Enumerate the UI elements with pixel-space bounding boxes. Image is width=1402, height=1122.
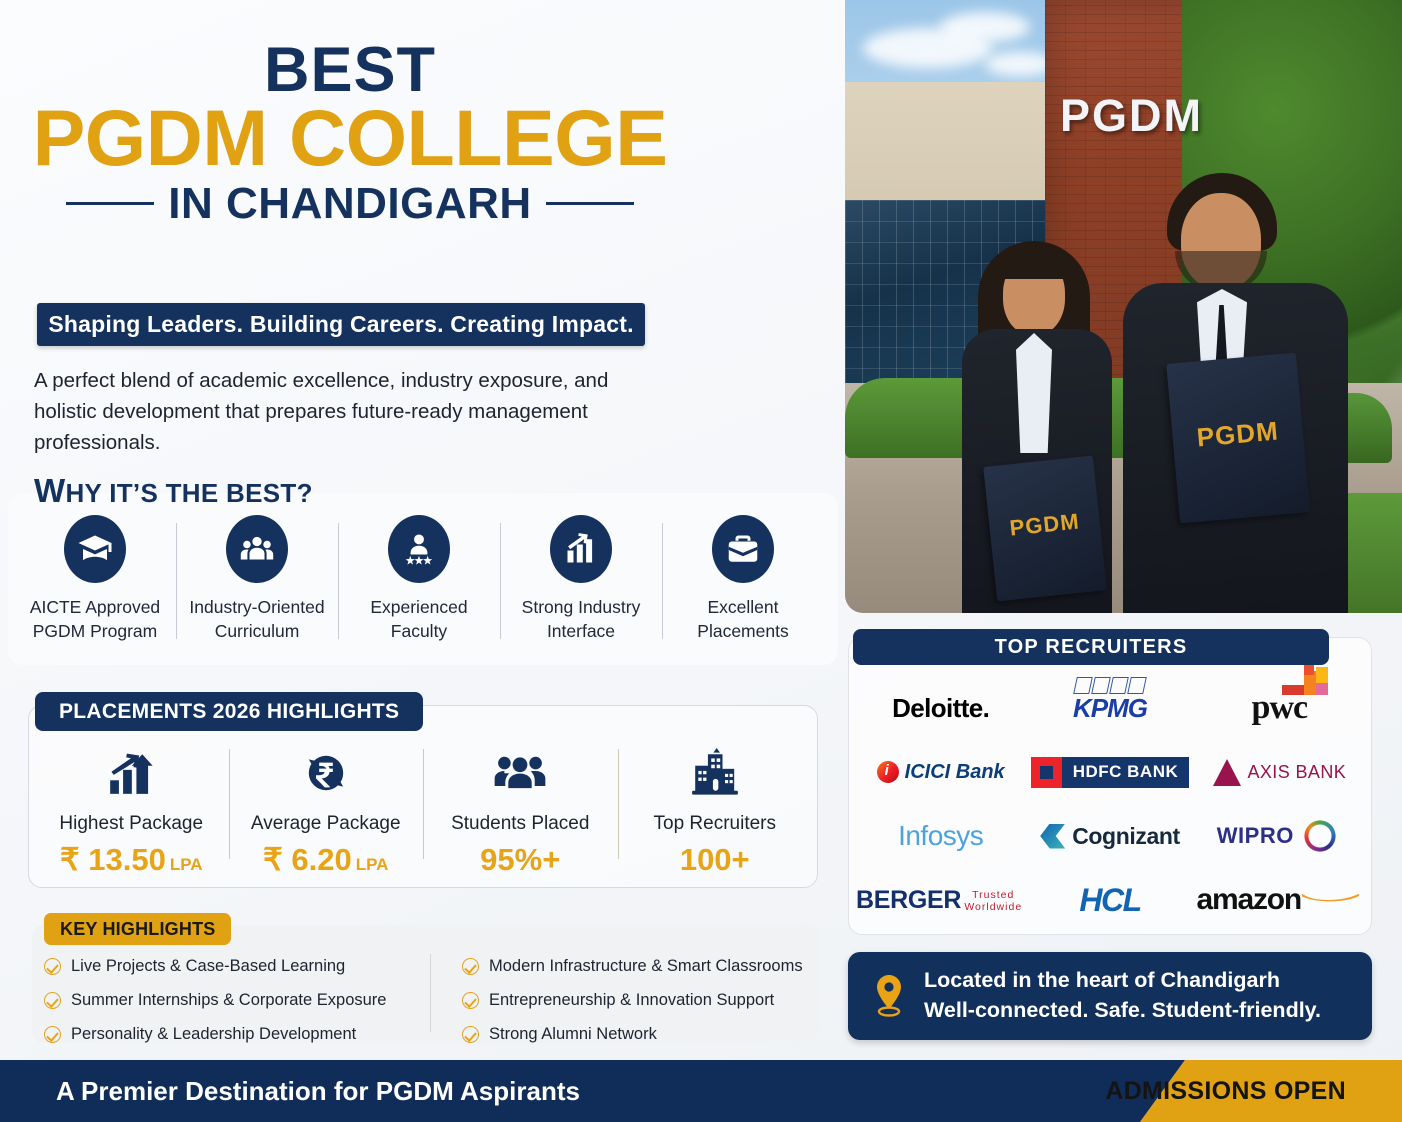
key-highlights-left-column: Live Projects & Case-Based Learning Summ… [44, 952, 424, 1049]
list-item-label: Live Projects & Case-Based Learning [71, 957, 345, 976]
icici-mark-icon [877, 761, 899, 783]
why-item-faculty[interactable]: Experienced Faculty [338, 515, 500, 643]
why-label-line1: Excellent [707, 597, 778, 617]
why-items-row: AICTE Approved PGDM Program Industry-Ori… [14, 515, 824, 643]
hcl-logo: HCL [1079, 882, 1140, 919]
why-item-industry[interactable]: Strong Industry Interface [500, 515, 662, 643]
stat-value: 100+ [680, 842, 750, 878]
list-item-label: Personality & Leadership Development [71, 1025, 356, 1044]
why-label-line1: Experienced [370, 597, 467, 617]
intro-paragraph: A perfect blend of academic excellence, … [34, 365, 614, 458]
stat-number: 95%+ [480, 842, 560, 878]
why-label-line2: Curriculum [215, 621, 300, 641]
list-item-label: Entrepreneurship & Innovation Support [489, 991, 774, 1010]
bar-chart-arrow-icon [106, 745, 156, 801]
why-item-curriculum[interactable]: Industry-Oriented Curriculum [176, 515, 338, 643]
person-stars-icon [388, 515, 450, 583]
why-item-aicte[interactable]: AICTE Approved PGDM Program [14, 515, 176, 643]
placements-stats-row: Highest Package ₹ 13.50 LPA Average Pack… [34, 745, 812, 878]
key-highlights-right-column: Modern Infrastructure & Smart Classrooms… [424, 952, 804, 1049]
rule-right [546, 202, 634, 205]
why-item-label: Strong Industry Interface [522, 596, 641, 643]
why-label-line1: Strong Industry [522, 597, 641, 617]
location-line-2: Well-connected. Safe. Student-friendly. [924, 998, 1321, 1022]
map-pin-icon [872, 973, 906, 1019]
placements-heading: PLACEMENTS 2026 HIGHLIGHTS [35, 692, 423, 731]
why-item-label: AICTE Approved PGDM Program [30, 596, 160, 643]
stat-top-recruiters: Top Recruiters 100+ [618, 745, 813, 878]
list-item-label: Strong Alumni Network [489, 1025, 657, 1044]
why-title-capital: W [34, 472, 65, 509]
list-item: Live Projects & Case-Based Learning [44, 952, 424, 981]
key-highlights-columns: Live Projects & Case-Based Learning Summ… [44, 952, 804, 1049]
amazon-smile-icon [1301, 892, 1362, 903]
list-item-label: Summer Internships & Corporate Exposure [71, 991, 386, 1010]
hdfc-mark-icon [1031, 757, 1062, 788]
why-item-label: Industry-Oriented Curriculum [189, 596, 324, 643]
check-circle-icon [462, 958, 479, 975]
cognizant-mark-icon [1040, 824, 1065, 849]
list-item: Personality & Leadership Development [44, 1020, 424, 1049]
logo-text: HDFC BANK [1062, 757, 1190, 788]
list-item: Summer Internships & Corporate Exposure [44, 986, 424, 1015]
check-circle-icon [462, 1026, 479, 1043]
cognizant-logo: Cognizant [1040, 823, 1180, 850]
list-item: Entrepreneurship & Innovation Support [462, 986, 804, 1015]
logo-text: HCL [1079, 882, 1140, 919]
why-label-line1: Industry-Oriented [189, 597, 324, 617]
why-label-line2: Interface [547, 621, 615, 641]
buildings-icon [690, 745, 740, 801]
hdfc-bank-logo: HDFC BANK [1031, 757, 1190, 788]
stat-number: ₹ 6.20 [263, 842, 352, 878]
amazon-logo: amazon [1197, 883, 1363, 917]
berger-logo: BERGER Trusted Worldwide [856, 886, 1025, 915]
logo-text: amazon [1197, 883, 1302, 917]
logo-text: WIPRO [1217, 823, 1294, 849]
pgdm-folder: PGDM [983, 456, 1107, 602]
logo-text: ICICI Bank [905, 761, 1005, 784]
students-group-icon [494, 745, 546, 801]
wipro-dots-icon [1298, 814, 1342, 858]
icici-bank-logo: ICICI Bank [877, 761, 1005, 784]
pgdm-folder: PGDM [1166, 353, 1309, 524]
pwc-logo: pwc [1252, 689, 1308, 727]
why-label-line1: AICTE Approved [30, 597, 160, 617]
tagline-banner: Shaping Leaders. Building Careers. Creat… [37, 303, 645, 346]
why-item-placements[interactable]: Excellent Placements [662, 515, 824, 643]
check-circle-icon [44, 992, 61, 1009]
logo-text: BERGER [856, 886, 961, 915]
headline-line-3-row: IN CHANDIGARH [0, 179, 700, 229]
list-item: Modern Infrastructure & Smart Classrooms [462, 952, 804, 981]
footer-tagline: A Premier Destination for PGDM Aspirants [56, 1060, 580, 1122]
key-highlights-heading: KEY HIGHLIGHTS [44, 913, 231, 945]
wipro-logo: WIPRO [1217, 814, 1342, 858]
check-circle-icon [462, 992, 479, 1009]
why-item-label: Experienced Faculty [370, 596, 467, 643]
top-recruiters-grid: Deloitte. KPMG pwc ICICI Bank HDFC BANK [856, 676, 1364, 932]
why-label-line2: PGDM Program [33, 621, 157, 641]
kpmg-bars-icon [1075, 677, 1145, 694]
stat-unit: LPA [356, 855, 389, 875]
logo-text: Cognizant [1072, 823, 1180, 850]
check-circle-icon [44, 1026, 61, 1043]
stat-number: 100+ [680, 842, 750, 878]
why-title-rest: HY IT’S THE BEST? [65, 478, 312, 508]
location-line-1: Located in the heart of Chandigarh [924, 968, 1280, 992]
stat-value: 95%+ [480, 842, 560, 878]
logo-text: AXIS BANK [1248, 762, 1347, 783]
logo-text: Infosys [898, 820, 983, 852]
poster-canvas: PGDM PGDM PGDM [0, 0, 1402, 1122]
kpmg-logo: KPMG [1073, 693, 1147, 724]
stat-label: Highest Package [59, 813, 203, 835]
stat-label: Average Package [251, 813, 401, 835]
student-male: PGDM [1115, 173, 1365, 613]
why-section-title: WHY IT’S THE BEST? [34, 472, 313, 510]
people-group-icon [226, 515, 288, 583]
headline-line-3: IN CHANDIGARH [168, 179, 531, 229]
stat-value: ₹ 13.50 LPA [60, 842, 203, 878]
stat-value: ₹ 6.20 LPA [263, 842, 388, 878]
logo-text: Deloitte. [892, 693, 989, 724]
growth-chart-icon [550, 515, 612, 583]
rupee-coin-icon [302, 745, 350, 801]
location-text: Located in the heart of Chandigarh Well-… [924, 966, 1321, 1025]
list-item: Strong Alumni Network [462, 1020, 804, 1049]
stat-unit: LPA [170, 855, 203, 875]
logo-tagline: Trusted Worldwide [961, 889, 1025, 913]
stat-label: Students Placed [451, 813, 589, 835]
admissions-open-label[interactable]: ADMISSIONS OPEN [1105, 1060, 1346, 1122]
logo-text: KPMG [1073, 693, 1147, 724]
top-recruiters-heading: TOP RECRUITERS [853, 629, 1329, 665]
stat-students-placed: Students Placed 95%+ [423, 745, 618, 878]
stat-average-package: Average Package ₹ 6.20 LPA [229, 745, 424, 878]
axis-mark-icon [1213, 759, 1241, 786]
graduation-cap-icon [64, 515, 126, 583]
why-label-line2: Placements [697, 621, 788, 641]
rule-left [66, 202, 154, 205]
list-item-label: Modern Infrastructure & Smart Classrooms [489, 957, 803, 976]
cloud-shape [940, 12, 1030, 42]
building-sign-text: PGDM [1060, 90, 1203, 142]
check-circle-icon [44, 958, 61, 975]
stat-highest-package: Highest Package ₹ 13.50 LPA [34, 745, 229, 878]
stat-label: Top Recruiters [654, 813, 777, 835]
hero-campus-photo: PGDM PGDM PGDM [845, 0, 1402, 613]
deloitte-logo: Deloitte. [892, 693, 989, 724]
why-item-label: Excellent Placements [697, 596, 788, 643]
footer-bar: A Premier Destination for PGDM Aspirants… [0, 1060, 1402, 1122]
location-banner: Located in the heart of Chandigarh Well-… [848, 952, 1372, 1040]
infosys-logo: Infosys [898, 820, 983, 852]
headline-line-2: PGDM COLLEGE [0, 98, 700, 177]
why-label-line2: Faculty [391, 621, 447, 641]
briefcase-icon [712, 515, 774, 583]
headline-block: BEST PGDM COLLEGE IN CHANDIGARH [0, 40, 700, 229]
axis-bank-logo: AXIS BANK [1213, 759, 1347, 786]
stat-number: ₹ 13.50 [60, 842, 166, 878]
